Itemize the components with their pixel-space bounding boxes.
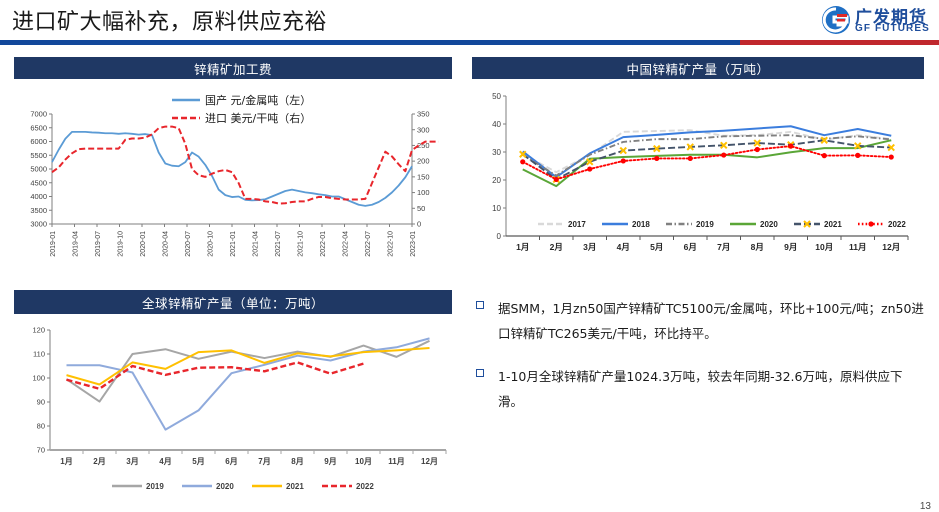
x-axis-label: 4月 [159,457,171,466]
series-line-domestic [52,132,412,206]
x-axis-label: 6月 [684,242,697,252]
y-axis-left-label: 4500 [30,178,47,187]
y-axis-label: 0 [497,232,502,241]
x-axis-label: 9月 [324,457,336,466]
chart1-title-bar: 锌精矿加工费 [14,57,452,79]
y-axis-label: 70 [37,446,45,455]
y-axis-right-label: 350 [417,110,430,119]
y-axis-right-label: 50 [417,204,425,213]
bullet-item: 1-10月全球锌精矿产量1024.3万吨，较去年同期-32.6万吨，原料供应下滑… [474,364,926,414]
legend-label-2018: 2018 [632,220,650,229]
chart2-title-bar: 中国锌精矿产量（万吨） [472,57,924,79]
y-axis-left-label: 7000 [30,110,47,119]
page-number: 13 [920,501,931,512]
legend-label-2017: 2017 [568,220,586,229]
y-axis-label: 120 [32,326,45,335]
x-axis-label: 2019-10 [117,231,124,257]
chart2-canvas: 010203040501月2月3月4月5月6月7月8月9月10月11月12月20… [472,84,924,280]
bullet-text: 据SMM，1月zn50国产锌精矿TC5100元/金属吨，环比+100元/吨；zn… [498,296,926,346]
y-axis-label: 100 [32,374,45,383]
x-axis-label: 2021-07 [275,231,282,257]
series-line-import [52,127,439,204]
legend-marker-2022 [868,221,873,226]
legend-label-2019: 2019 [146,482,164,491]
x-axis-label: 12月 [882,242,900,252]
x-axis-label: 10月 [815,242,833,252]
x-axis-label: 2020-10 [207,231,214,257]
y-axis-label: 80 [37,422,45,431]
x-axis-label: 3月 [126,457,138,466]
data-point-2022 [855,153,860,158]
series-line-2021 [67,348,430,384]
header-rule-red [740,40,939,45]
y-axis-label: 50 [492,92,501,101]
y-axis-left-label: 3500 [30,206,47,215]
x-axis-label: 11月 [849,242,867,252]
x-axis-label: 6月 [225,457,237,466]
data-point-2022 [621,158,626,163]
x-axis-label: 8月 [291,457,303,466]
y-axis-left-label: 3000 [30,220,47,229]
page-title: 进口矿大幅补充，原料供应充裕 [12,4,327,36]
x-axis-label: 12月 [421,457,438,466]
legend-label-2022: 2022 [356,482,374,491]
legend-label-2022: 2022 [888,220,906,229]
header-rule-blue [0,40,740,45]
legend-label-2020: 2020 [216,482,234,491]
x-axis-label: 2020-04 [162,231,169,257]
y-axis-left-label: 5500 [30,151,47,160]
y-axis-right-label: 200 [417,157,430,166]
series-line-2017 [523,130,892,172]
slide: 进口矿大幅补充，原料供应充裕 广发期货 GF FUTURES 锌精矿加工费 中国… [0,0,939,512]
data-point-2022 [554,177,559,182]
x-axis-label: 2022-04 [342,231,349,257]
x-axis-label: 2021-10 [297,231,304,257]
x-axis-label: 5月 [192,457,204,466]
legend-label-2021: 2021 [824,220,842,229]
chart3-canvas: 7080901001101201月2月3月4月5月6月7月8月9月10月11月1… [14,318,454,508]
brand-logo: 广发期货 GF FUTURES [821,3,933,39]
y-axis-label: 10 [492,204,501,213]
x-axis-label: 2019-07 [95,231,102,257]
bullet-text: 1-10月全球锌精矿产量1024.3万吨，较去年同期-32.6万吨，原料供应下滑… [498,364,926,414]
y-axis-right-label: 150 [417,172,430,181]
x-axis-label: 2023-01 [410,231,417,257]
y-axis-label: 20 [492,176,501,185]
x-axis-label: 2020-07 [185,231,192,257]
x-axis-label: 5月 [650,242,663,252]
x-axis-label: 2022-10 [387,231,394,257]
logo-text-en: GF FUTURES [855,23,930,34]
gf-logo-icon [821,5,851,35]
x-axis-label: 7月 [258,457,270,466]
data-point-2022 [654,156,659,161]
chart3-title-bar: 全球锌精矿产量（单位：万吨） [14,290,452,314]
data-point-2022 [587,166,592,171]
x-axis-label: 2022-01 [320,231,327,257]
x-axis-label: 3月 [583,242,596,252]
data-point-2022 [688,156,693,161]
x-axis-label: 2021-04 [252,231,259,257]
y-axis-left-label: 6500 [30,123,47,132]
legend-label-2019: 2019 [696,220,714,229]
chart-china-zinc-output: 010203040501月2月3月4月5月6月7月8月9月10月11月12月20… [472,84,924,280]
y-axis-label: 110 [33,350,45,359]
data-point-2022 [520,159,525,164]
chart-zinc-tc: 3000350040004500500055006000650070000501… [14,82,454,280]
x-axis-label: 7月 [717,242,730,252]
x-axis-label: 2019-04 [72,231,79,257]
commentary-panel: 据SMM，1月zn50国产锌精矿TC5100元/金属吨，环比+100元/吨；zn… [474,296,926,486]
x-axis-label: 1月 [516,242,529,252]
x-axis-label: 10月 [355,457,372,466]
y-axis-right-label: 300 [417,125,430,134]
data-point-2022 [788,144,793,149]
slide-header: 进口矿大幅补充，原料供应充裕 广发期货 GF FUTURES [0,0,939,44]
x-axis-label: 11月 [388,457,404,466]
x-axis-label: 2019-01 [50,231,57,257]
chart1-canvas: 3000350040004500500055006000650070000501… [14,82,454,280]
y-axis-left-label: 4000 [30,192,47,201]
legend-label-domestic: 国产 元/金属吨（左） [205,93,311,107]
y-axis-label: 40 [492,120,501,129]
y-axis-left-label: 6000 [30,137,47,146]
x-axis-label: 2021-01 [230,231,237,257]
x-axis-label: 1月 [60,457,72,466]
data-point-2022 [822,153,827,158]
bullet-square-icon [476,301,484,309]
y-axis-right-label: 100 [417,188,430,197]
chart-global-zinc-output: 7080901001101201月2月3月4月5月6月7月8月9月10月11月1… [14,318,454,508]
x-axis-label: 9月 [784,242,797,252]
series-line-2020 [523,140,892,186]
bullet-square-icon [476,369,484,377]
legend-label-import: 进口 美元/干吨（右） [205,111,311,125]
bullet-item: 据SMM，1月zn50国产锌精矿TC5100元/金属吨，环比+100元/吨；zn… [474,296,926,346]
y-axis-label: 30 [492,148,501,157]
x-axis-label: 4月 [617,242,630,252]
x-axis-label: 2月 [93,457,105,466]
y-axis-right-label: 0 [417,220,421,229]
y-axis-label: 90 [37,398,45,407]
x-axis-label: 2月 [550,242,563,252]
legend-label-2020: 2020 [760,220,778,229]
x-axis-label: 2022-07 [365,231,372,257]
data-point-2022 [755,147,760,152]
data-point-2022 [721,152,726,157]
y-axis-left-label: 5000 [30,165,47,174]
legend-label-2021: 2021 [286,482,304,491]
x-axis-label: 2020-01 [140,231,147,257]
x-axis-label: 8月 [751,242,764,252]
data-point-2022 [889,154,894,159]
